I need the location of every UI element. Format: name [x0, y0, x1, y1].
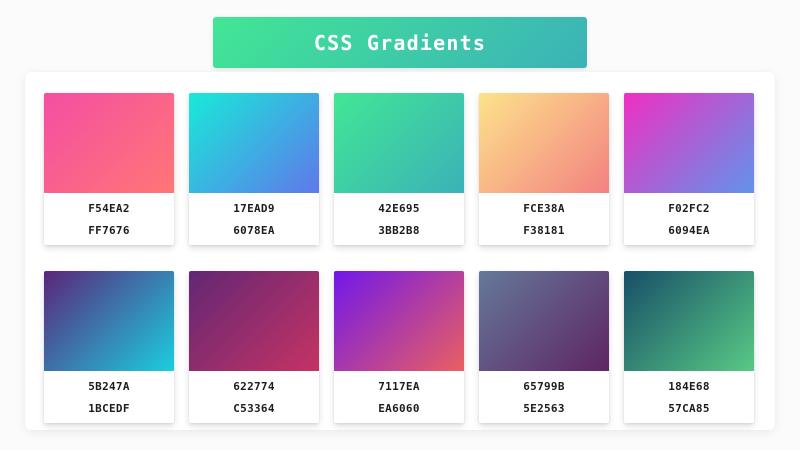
gradient-card-labels: F02FC26094EA [624, 193, 754, 245]
gradient-card[interactable]: 7117EAEA6060 [334, 271, 464, 423]
gradient-swatch [624, 271, 754, 371]
gradient-card[interactable]: 17EAD96078EA [189, 93, 319, 245]
gradient-to-hex[interactable]: 6094EA [668, 225, 710, 236]
gradient-from-hex[interactable]: 65799B [523, 381, 565, 392]
gradient-swatch [479, 271, 609, 371]
gradient-to-hex[interactable]: FF7676 [88, 225, 130, 236]
page-root: CSS Gradients F54EA2FF767617EAD96078EA42… [0, 0, 800, 450]
gradient-card[interactable]: 622774C53364 [189, 271, 319, 423]
gradient-card-labels: 42E6953BB2B8 [334, 193, 464, 245]
gradient-to-hex[interactable]: 1BCEDF [88, 403, 130, 414]
gradient-card[interactable]: 65799B5E2563 [479, 271, 609, 423]
gradient-from-hex[interactable]: 622774 [233, 381, 275, 392]
gradient-from-hex[interactable]: F54EA2 [88, 203, 130, 214]
gradient-from-hex[interactable]: 184E68 [668, 381, 710, 392]
gradient-card[interactable]: F54EA2FF7676 [44, 93, 174, 245]
gradient-card-labels: F54EA2FF7676 [44, 193, 174, 245]
gradient-card-grid: F54EA2FF767617EAD96078EA42E6953BB2B8FCE3… [44, 93, 756, 423]
gradient-swatch [189, 271, 319, 371]
gradient-card-labels: 184E6857CA85 [624, 371, 754, 423]
gradient-swatch [44, 271, 174, 371]
gradient-card[interactable]: 42E6953BB2B8 [334, 93, 464, 245]
gradient-from-hex[interactable]: 5B247A [88, 381, 130, 392]
gradient-swatch [624, 93, 754, 193]
gradient-from-hex[interactable]: 7117EA [378, 381, 420, 392]
gradient-card-labels: 622774C53364 [189, 371, 319, 423]
gradient-card-labels: 7117EAEA6060 [334, 371, 464, 423]
gradient-panel: F54EA2FF767617EAD96078EA42E6953BB2B8FCE3… [25, 72, 775, 430]
header-banner: CSS Gradients [213, 17, 587, 68]
gradient-card-labels: FCE38AF38181 [479, 193, 609, 245]
gradient-card-labels: 65799B5E2563 [479, 371, 609, 423]
gradient-from-hex[interactable]: F02FC2 [668, 203, 710, 214]
gradient-to-hex[interactable]: 6078EA [233, 225, 275, 236]
gradient-card-labels: 5B247A1BCEDF [44, 371, 174, 423]
gradient-card[interactable]: FCE38AF38181 [479, 93, 609, 245]
gradient-swatch [334, 93, 464, 193]
page-title: CSS Gradients [314, 33, 486, 53]
gradient-to-hex[interactable]: C53364 [233, 403, 275, 414]
gradient-to-hex[interactable]: F38181 [523, 225, 565, 236]
gradient-swatch [479, 93, 609, 193]
gradient-swatch [334, 271, 464, 371]
gradient-from-hex[interactable]: 17EAD9 [233, 203, 275, 214]
gradient-card[interactable]: 184E6857CA85 [624, 271, 754, 423]
gradient-swatch [44, 93, 174, 193]
gradient-from-hex[interactable]: FCE38A [523, 203, 565, 214]
gradient-card[interactable]: F02FC26094EA [624, 93, 754, 245]
gradient-to-hex[interactable]: 57CA85 [668, 403, 710, 414]
gradient-to-hex[interactable]: EA6060 [378, 403, 420, 414]
gradient-to-hex[interactable]: 5E2563 [523, 403, 565, 414]
gradient-from-hex[interactable]: 42E695 [378, 203, 420, 214]
gradient-card-labels: 17EAD96078EA [189, 193, 319, 245]
gradient-swatch [189, 93, 319, 193]
gradient-to-hex[interactable]: 3BB2B8 [378, 225, 420, 236]
gradient-card[interactable]: 5B247A1BCEDF [44, 271, 174, 423]
